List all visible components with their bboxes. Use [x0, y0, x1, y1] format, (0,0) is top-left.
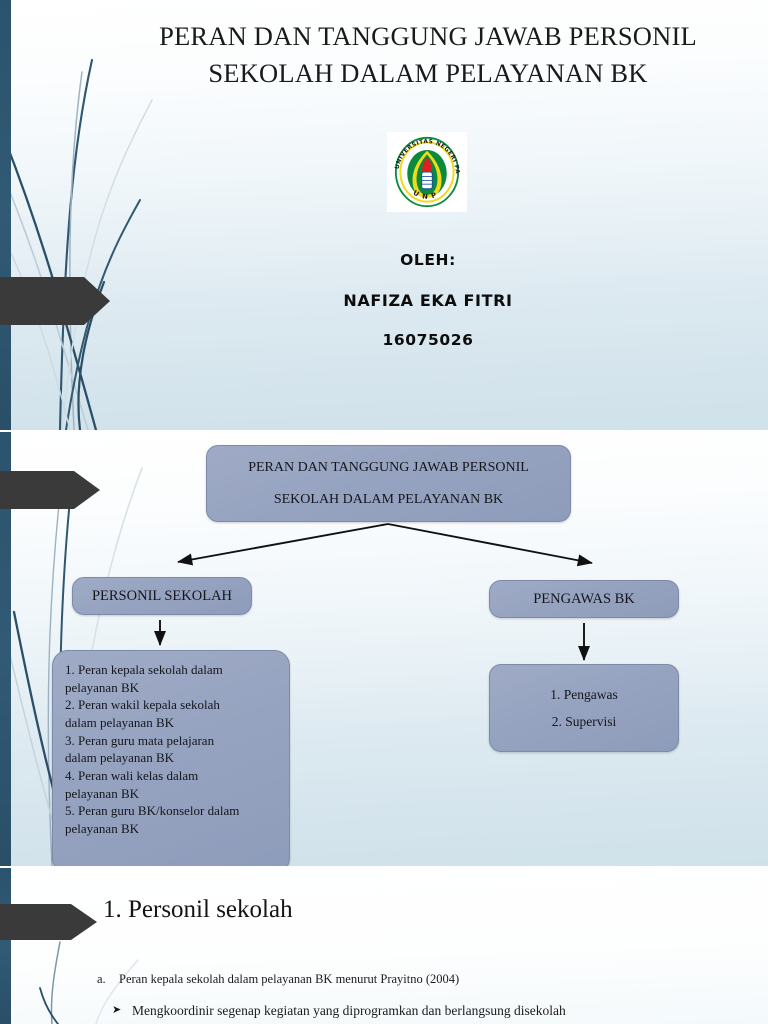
arrow-root-to-right	[388, 524, 592, 563]
diagram-branch-left-label: PERSONIL SEKOLAH	[92, 588, 232, 605]
author-name: NAFIZA EKA FITRI	[168, 291, 688, 310]
presentation-page: PERAN DAN TANGGUNG JAWAB PERSONIL SEKOLA…	[0, 0, 768, 1024]
list-item: 3. Peran guru mata pelajaran	[65, 732, 214, 750]
page-title: PERAN DAN TANGGUNG JAWAB PERSONIL SEKOLA…	[118, 18, 738, 91]
diagram-right-detail-box[interactable]: 1. Pengawas 2. Supervisi	[489, 664, 679, 752]
diagram-root-box[interactable]: PERAN DAN TANGGUNG JAWAB PERSONIL SEKOLA…	[206, 445, 571, 522]
bullet-arrow-icon: ➤	[112, 1003, 132, 1016]
list-item: pelayanan BK	[65, 679, 139, 697]
list-item: 1. Peran kepala sekolah dalam	[65, 661, 223, 679]
slide-content: 1. Personil sekolah a.Peran kepala sekol…	[0, 868, 768, 1024]
bullet-item: ➤Mengkoordinir segenap kegiatan yang dip…	[112, 1003, 566, 1019]
student-id: 16075026	[168, 331, 688, 349]
list-item: pelayanan BK	[65, 785, 139, 803]
list-item: 2. Supervisi	[552, 708, 617, 735]
list-item: 4. Peran wali kelas dalam	[65, 767, 198, 785]
section-heading: 1. Personil sekolah	[103, 896, 293, 924]
slide-title: PERAN DAN TANGGUNG JAWAB PERSONIL SEKOLA…	[0, 0, 768, 430]
list-item: 2. Peran wakil kepala sekolah	[65, 696, 220, 714]
list-item: 5. Peran guru BK/konselor dalam	[65, 802, 239, 820]
diagram-branch-personil-sekolah[interactable]: PERSONIL SEKOLAH	[72, 577, 252, 615]
list-item: dalam pelayanan BK	[65, 714, 174, 732]
unp-university-logo-icon: UNIVERSITAS NEGERI PADANG U N P	[389, 134, 465, 210]
diagram-branch-right-label: PENGAWAS BK	[533, 591, 635, 608]
list-item-a-text: Peran kepala sekolah dalam pelayanan BK …	[119, 972, 459, 986]
page-title-line2: SEKOLAH DALAM PELAYANAN BK	[118, 55, 738, 92]
diagram-left-detail-box[interactable]: 1. Peran kepala sekolah dalam pelayanan …	[52, 650, 290, 866]
list-marker: a.	[97, 972, 119, 987]
arrow-root-to-left	[178, 524, 388, 562]
page-title-line1: PERAN DAN TANGGUNG JAWAB PERSONIL	[118, 18, 738, 55]
slide-diagram: PERAN DAN TANGGUNG JAWAB PERSONIL SEKOLA…	[0, 432, 768, 866]
diagram-root-line1: PERAN DAN TANGGUNG JAWAB PERSONIL	[248, 452, 529, 484]
diagram-branch-pengawas-bk[interactable]: PENGAWAS BK	[489, 580, 679, 618]
author-label: OLEH:	[168, 251, 688, 269]
left-accent-band	[0, 0, 11, 430]
grass-decoration-slide3	[0, 868, 220, 1024]
bullet-item-text: Mengkoordinir segenap kegiatan yang dipr…	[132, 1003, 566, 1018]
list-item: pelayanan BK	[65, 820, 139, 838]
unp-logo-container: UNIVERSITAS NEGERI PADANG U N P	[387, 132, 467, 212]
list-item: 1. Pengawas	[550, 681, 618, 708]
left-accent-band	[0, 868, 11, 1024]
list-item: dalam pelayanan BK	[65, 749, 174, 767]
diagram-root-line2: SEKOLAH DALAM PELAYANAN BK	[274, 484, 503, 516]
list-item-a: a.Peran kepala sekolah dalam pelayanan B…	[97, 972, 459, 987]
